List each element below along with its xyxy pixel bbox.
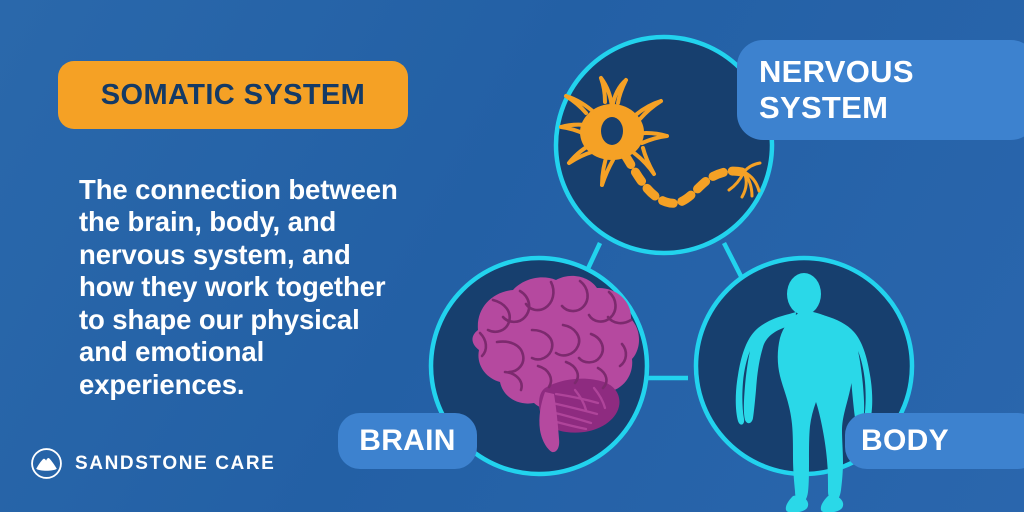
- label-body[interactable]: BODY: [845, 413, 1024, 469]
- label-nervous-system-text: NERVOUSSYSTEM: [759, 54, 914, 126]
- text-panel: SOMATIC SYSTEM The connection between th…: [0, 0, 440, 512]
- label-body-text: BODY: [861, 424, 949, 458]
- mountain-circle-icon: [30, 447, 63, 480]
- sandstone-care-logo-text: SANDSTONE CARE: [75, 453, 275, 475]
- somatic-system-badge-text: SOMATIC SYSTEM: [101, 79, 365, 112]
- description-text: The connection between the brain, body, …: [79, 174, 409, 402]
- label-nervous-system[interactable]: NERVOUSSYSTEM: [737, 40, 1024, 140]
- body-head: [787, 273, 821, 315]
- sandstone-care-logo: SANDSTONE CARE: [30, 447, 275, 480]
- somatic-system-badge: SOMATIC SYSTEM: [58, 61, 408, 129]
- node-body[interactable]: [696, 258, 912, 512]
- neuron-nucleus: [601, 117, 623, 145]
- body-foot-right: [821, 495, 843, 512]
- infographic-canvas: NERVOUSSYSTEM BRAIN BODY SOMATIC SYSTEM …: [0, 0, 1024, 512]
